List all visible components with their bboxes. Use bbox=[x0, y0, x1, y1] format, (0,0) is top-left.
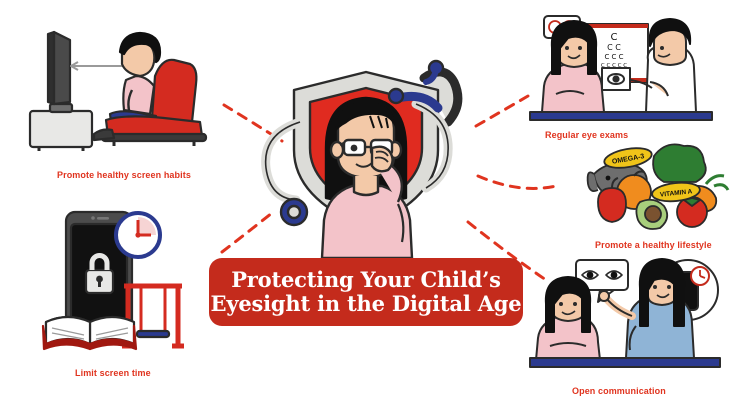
svg-text:C C: C C bbox=[607, 43, 621, 52]
scene-open-communication bbox=[524, 254, 730, 370]
scene-screen-habits bbox=[14, 18, 226, 150]
title-banner: Protecting Your Child’s Eyesight in the … bbox=[209, 258, 523, 326]
label-screen-habits: Promote healthy screen habits bbox=[57, 170, 191, 180]
scene-eye-exams: C C C C C C C C C C C C C C C C bbox=[522, 8, 726, 126]
badge-omega-3: OMEGA-3 bbox=[603, 145, 653, 171]
connector-healthy-lifestyle bbox=[478, 176, 556, 188]
svg-text:C C C: C C C bbox=[604, 53, 623, 61]
label-limit-screen-time: Limit screen time bbox=[75, 368, 151, 378]
infographic-canvas: Promote healthy screen habits bbox=[0, 0, 732, 411]
title-line-2: Eyesight in the Digital Age bbox=[211, 292, 522, 316]
scene-healthy-lifestyle: OMEGA-3 VITAMIN A bbox=[588, 140, 730, 232]
scene-center-shield bbox=[248, 52, 484, 264]
svg-text:C: C bbox=[611, 32, 618, 43]
book-icon bbox=[43, 317, 136, 349]
title-line-1: Protecting Your Child’s bbox=[231, 268, 501, 292]
label-healthy-lifestyle: Promote a healthy lifestyle bbox=[595, 240, 712, 250]
clock-icon bbox=[116, 213, 160, 257]
label-eye-exams: Regular eye exams bbox=[545, 130, 628, 140]
scene-limit-screen-time bbox=[38, 204, 218, 356]
label-open-communication: Open communication bbox=[572, 386, 666, 396]
